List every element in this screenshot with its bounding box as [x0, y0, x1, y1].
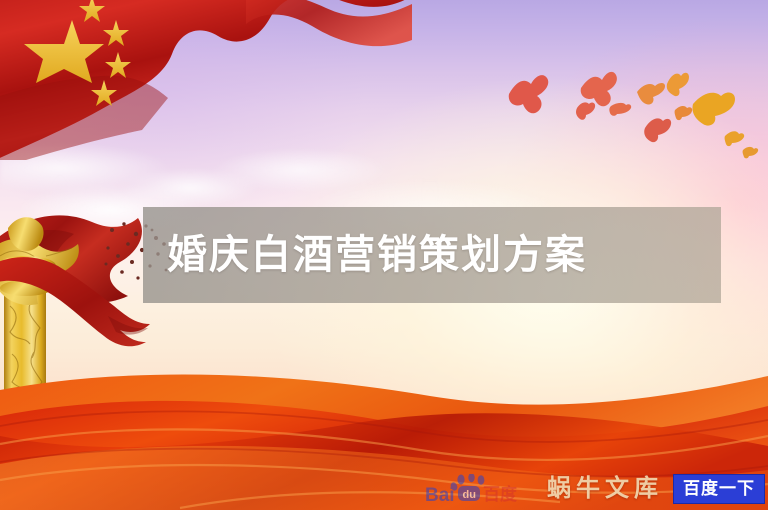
title-banner: 婚庆白酒营销策划方案: [143, 207, 721, 303]
svg-text:du: du: [463, 489, 476, 501]
svg-text:Bai: Bai: [425, 485, 455, 504]
national-flag-icon: [0, 0, 412, 160]
library-brand-label: 蜗牛文库: [547, 477, 663, 501]
svg-text:百度: 百度: [483, 484, 518, 504]
flying-birds-flock: [495, 52, 765, 162]
footer-brand-bar: du Bai 百度 蜗牛文库 百度一下: [425, 472, 768, 506]
chinese-national-flag: [0, 0, 412, 160]
baidu-logo[interactable]: du Bai 百度: [425, 474, 537, 504]
page-title: 婚庆白酒营销策划方案: [143, 235, 587, 275]
baidu-search-button[interactable]: 百度一下: [673, 474, 765, 504]
bird-flock-icon: [495, 52, 765, 162]
baidu-logo-icon: du Bai 百度: [425, 474, 537, 504]
cover-image-canvas: 婚庆白酒营销策划方案 du Bai 百度 蜗牛文库 百度一下: [0, 0, 768, 510]
